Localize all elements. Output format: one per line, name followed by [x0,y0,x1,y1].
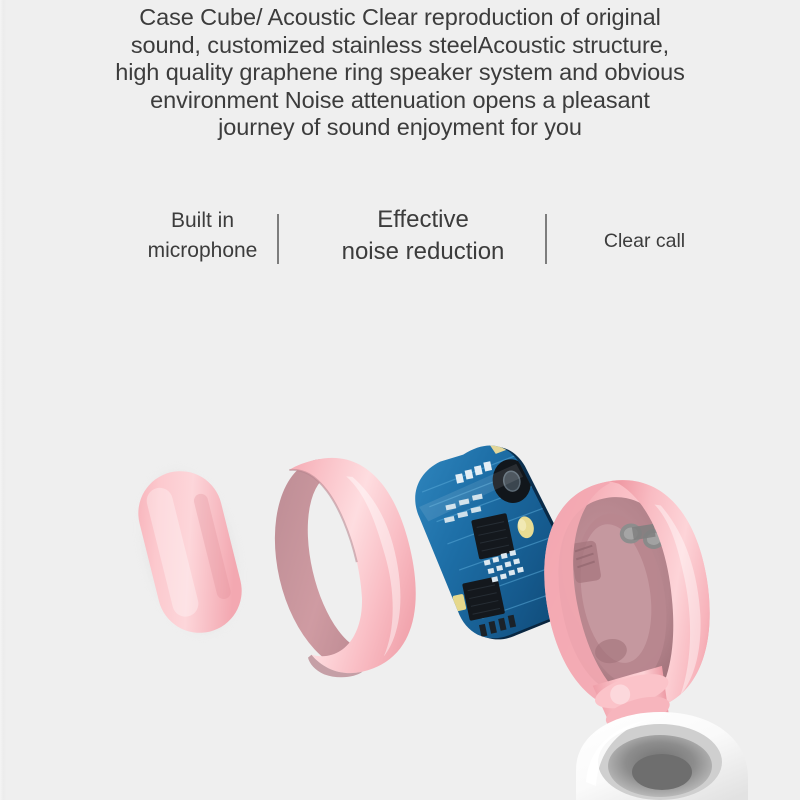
case-lid-part [127,462,252,642]
case-ring-band-part [249,443,437,688]
feature-row: Built in microphone Effective noise redu… [60,206,740,286]
ear-tip-part [576,665,748,800]
product-marketing-image: Case Cube/ Acoustic Clear reproduction o… [0,0,800,800]
feature-clear-call: Clear call [552,226,737,256]
page-headline: Case Cube/ Acoustic Clear reproduction o… [60,4,740,142]
feature-built-in-microphone: Built in microphone [105,206,300,266]
feature-divider-1 [277,214,279,264]
feature-effective-noise-reduction: Effective noise reduction [308,204,538,268]
feature-divider-2 [545,214,547,264]
product-exploded-view [0,330,800,800]
